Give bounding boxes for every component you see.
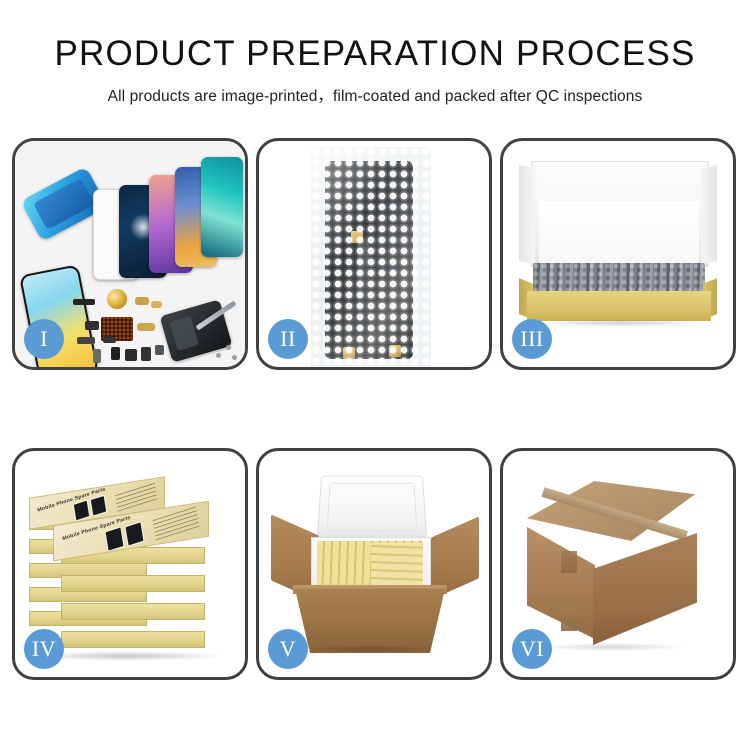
- spare-part: [151, 301, 162, 308]
- open-box-assembly: [519, 155, 717, 337]
- copper-coil-part: [107, 289, 127, 309]
- step-panel-2[interactable]: II: [256, 138, 492, 370]
- box-lid-left-flap: [519, 165, 535, 266]
- step-badge-6: VI: [512, 629, 552, 669]
- step-panel-3[interactable]: III: [500, 138, 736, 370]
- packed-yellow-boxes: [371, 543, 423, 585]
- page-header: PRODUCT PREPARATION PROCESS All products…: [0, 0, 750, 106]
- spare-part: [155, 345, 164, 355]
- carton-right-face: [593, 533, 697, 645]
- spare-part: [85, 321, 99, 330]
- spare-part: [111, 347, 120, 360]
- step-panel-4[interactable]: Mobile Phone Spare Parts Mobile Phone Sp…: [12, 448, 248, 680]
- process-steps-grid: I II: [12, 138, 738, 680]
- screw: [226, 345, 231, 350]
- spare-part: [125, 349, 137, 361]
- spare-part: [77, 337, 95, 344]
- step-panel-5[interactable]: V: [256, 448, 492, 680]
- carton-seal: [561, 609, 577, 631]
- box-front-yellow: [527, 291, 711, 321]
- step-badge-4: IV: [24, 629, 64, 669]
- box-lid-right-flap: [701, 165, 717, 266]
- spare-part: [137, 323, 155, 331]
- box-thumbnail: [73, 499, 91, 521]
- box-thumbnail: [104, 526, 124, 552]
- foam-sheet: [539, 201, 699, 267]
- drop-shadow: [305, 645, 437, 653]
- box-thumbnail: [90, 495, 108, 517]
- box-spec-lines: [153, 506, 200, 540]
- plastic-sheen: [311, 147, 431, 367]
- box-side: [61, 603, 205, 620]
- box-spec-lines: [115, 481, 157, 512]
- spare-part: [103, 337, 116, 343]
- page-subtitle: All products are image-printed，film-coat…: [0, 84, 750, 106]
- styrofoam-lid: [317, 476, 428, 541]
- step-panel-1[interactable]: I: [12, 138, 248, 370]
- step-panel-6[interactable]: VI: [500, 448, 736, 680]
- box-thumbnail: [124, 521, 144, 547]
- step-badge-1: I: [24, 319, 64, 359]
- box-side: [61, 631, 205, 648]
- screw: [232, 355, 237, 360]
- step-badge-2: II: [268, 319, 308, 359]
- spare-part: [93, 349, 101, 363]
- carton-seal: [561, 551, 577, 573]
- page-title: PRODUCT PREPARATION PROCESS: [0, 36, 750, 73]
- spare-part: [73, 299, 95, 305]
- spare-part: [135, 297, 149, 305]
- spare-part: [141, 347, 151, 361]
- step-badge-3: III: [512, 319, 552, 359]
- screw: [216, 353, 221, 358]
- carton-body: [295, 589, 445, 653]
- drop-shadow: [543, 643, 683, 651]
- step-badge-5: V: [268, 629, 308, 669]
- drop-shadow: [533, 319, 709, 327]
- phone-screen-teal: [201, 157, 243, 257]
- box-side: [61, 575, 205, 592]
- wrapped-contents: [533, 263, 705, 293]
